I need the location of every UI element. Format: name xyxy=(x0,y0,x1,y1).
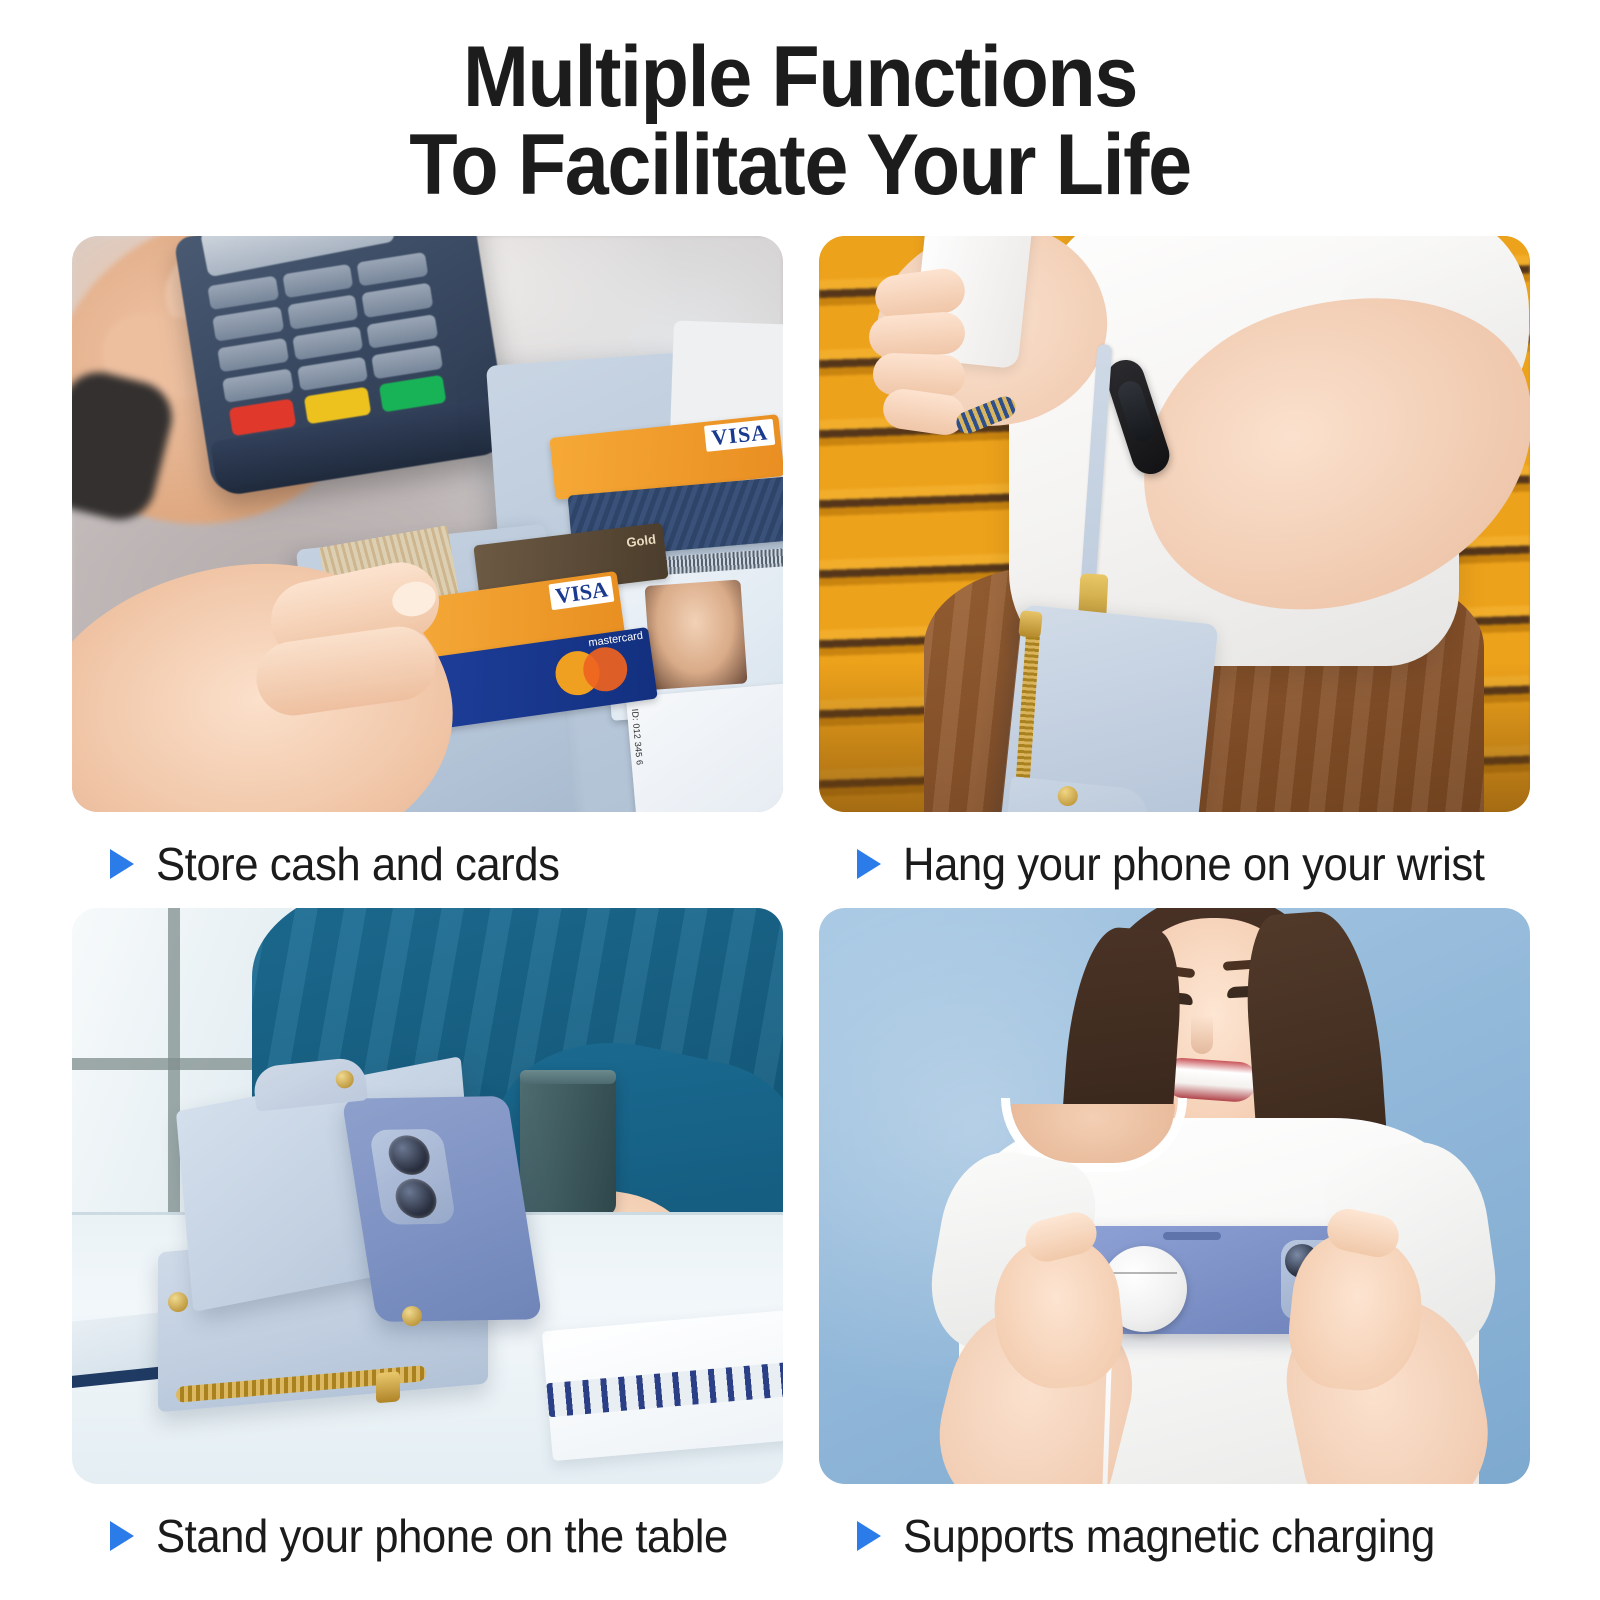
feature-card-magnetic-charging: Supports magnetic charging xyxy=(819,908,1530,1566)
caption-stand-on-table: Stand your phone on the table xyxy=(72,1506,783,1566)
caption-text: Store cash and cards xyxy=(156,837,559,891)
mug-rim xyxy=(520,1070,616,1084)
gold-card-label: Gold xyxy=(626,532,657,550)
coffee-mug xyxy=(520,1070,616,1216)
pos-key xyxy=(367,314,439,349)
phone-in-case xyxy=(342,1096,543,1322)
rivet xyxy=(168,1292,188,1312)
camera-lens xyxy=(386,1135,433,1175)
feature-grid: VISA ID: 012 345 6 DOCUMENT SAMPLE, LICE… xyxy=(72,236,1530,1466)
infographic-page: Multiple Functions To Facilitate Your Li… xyxy=(0,0,1600,1600)
pos-key xyxy=(217,337,289,372)
zipper-pull xyxy=(376,1371,400,1403)
pos-key xyxy=(222,368,294,403)
case-flap xyxy=(1005,776,1151,812)
triangle-right-icon xyxy=(857,1521,881,1551)
visa-logo-text: VISA xyxy=(549,576,615,610)
snap-button xyxy=(335,1069,355,1089)
triangle-right-icon xyxy=(110,849,134,879)
zipper-pull xyxy=(1018,610,1043,638)
caption-magnetic-charging: Supports magnetic charging xyxy=(819,1506,1530,1566)
pos-key xyxy=(207,276,279,311)
rivet xyxy=(402,1306,422,1326)
notebook-spiral xyxy=(546,1361,783,1418)
wallet-phone-case xyxy=(1000,604,1219,812)
pos-key xyxy=(371,345,443,380)
case-speaker-cutout xyxy=(1163,1232,1221,1240)
feature-card-stand-on-table: Stand your phone on the table xyxy=(72,908,783,1566)
caption-text: Stand your phone on the table xyxy=(156,1509,728,1563)
pos-key xyxy=(212,306,284,341)
charger-label xyxy=(1111,1272,1177,1276)
spiral-notebook xyxy=(542,1309,783,1461)
nose xyxy=(1191,1016,1213,1054)
feature-card-hang-on-wrist: Hang your phone on your wrist xyxy=(819,236,1530,894)
pos-key xyxy=(282,264,354,299)
feature-card-store-cash-and-cards: VISA ID: 012 345 6 DOCUMENT SAMPLE, LICE… xyxy=(72,236,783,894)
camera-module xyxy=(369,1129,457,1225)
pos-key xyxy=(297,356,369,391)
photo-store-cash-and-cards: VISA ID: 012 345 6 DOCUMENT SAMPLE, LICE… xyxy=(72,236,783,812)
photo-stand-on-table xyxy=(72,908,783,1484)
photo-magnetic-charging xyxy=(819,908,1530,1484)
caption-text: Supports magnetic charging xyxy=(903,1509,1435,1563)
title-line-2: To Facilitate Your Life xyxy=(64,122,1536,210)
pos-terminal xyxy=(174,236,511,496)
id-portrait xyxy=(645,579,748,689)
caption-hang-on-wrist: Hang your phone on your wrist xyxy=(819,834,1530,894)
pos-key xyxy=(362,283,434,318)
triangle-right-icon xyxy=(110,1521,134,1551)
zipper xyxy=(1015,621,1041,792)
caption-store-cash-and-cards: Store cash and cards xyxy=(72,834,783,894)
pos-key xyxy=(287,295,359,330)
visa-logo-text: VISA xyxy=(704,419,775,452)
finger xyxy=(868,311,967,360)
page-title: Multiple Functions To Facilitate Your Li… xyxy=(0,34,1600,209)
photo-hang-on-wrist xyxy=(819,236,1530,812)
triangle-right-icon xyxy=(857,849,881,879)
pos-key xyxy=(292,326,364,361)
pos-key xyxy=(357,252,429,287)
caption-text: Hang your phone on your wrist xyxy=(903,837,1484,891)
camera-lens xyxy=(393,1178,440,1218)
title-line-1: Multiple Functions xyxy=(64,34,1536,122)
